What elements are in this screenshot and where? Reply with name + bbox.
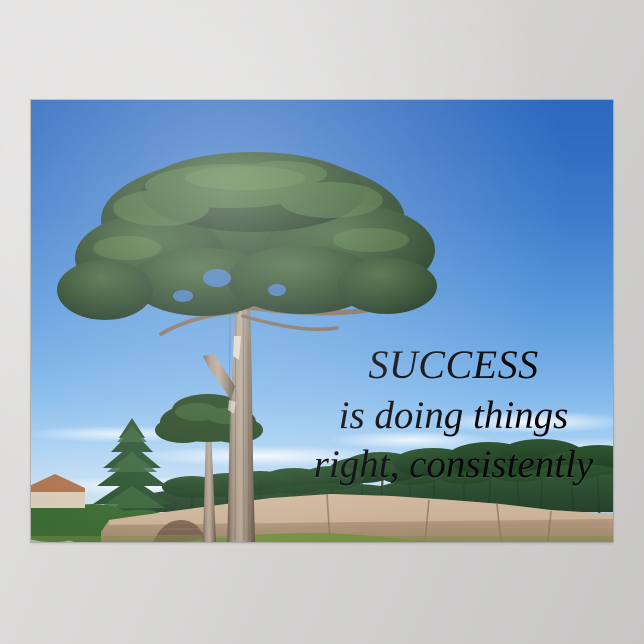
distant-building bbox=[31, 474, 85, 508]
main-pine-canopy bbox=[57, 152, 437, 320]
quote-line-3: right, consistently bbox=[281, 443, 613, 487]
poster-product-image: SUCCESS is doing things right, consisten… bbox=[0, 0, 644, 644]
quote-text-overlay: SUCCESS is doing things right, consisten… bbox=[281, 343, 613, 487]
poster-photograph: SUCCESS is doing things right, consisten… bbox=[31, 100, 613, 542]
quote-line-1: SUCCESS bbox=[281, 343, 613, 388]
quote-line-2: is doing things bbox=[281, 394, 613, 438]
